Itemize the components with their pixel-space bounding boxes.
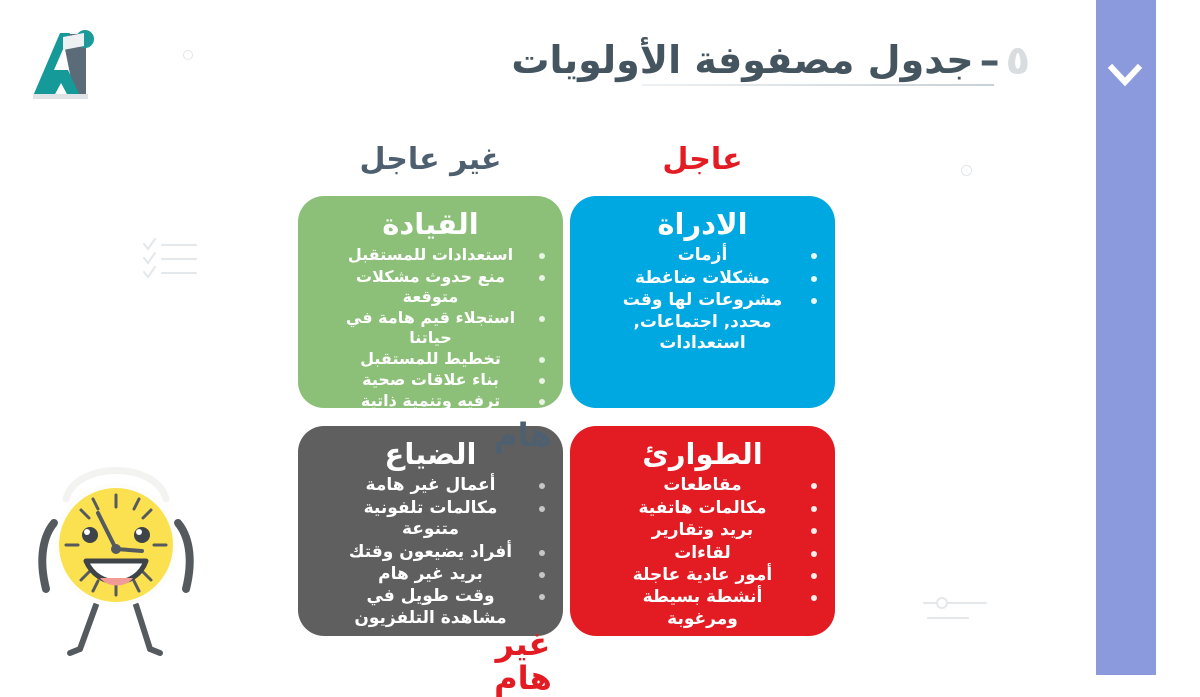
quadrant-title: الضياع [385, 438, 477, 471]
list-item: بريد وتقارير [584, 520, 821, 541]
list-item: استعدادات للمستقبل [312, 245, 549, 265]
list-item: مكالمات هاتفية [584, 498, 821, 519]
quadrant-management[interactable]: الادراة أزمات مشكلات ضاغطة مشروعات لها و… [570, 196, 835, 408]
row-label-line2: هام [475, 662, 571, 696]
row-label-line1: غير [475, 628, 571, 662]
title-number: ٥ [1006, 41, 1030, 81]
quadrant-title: الطوارئ [642, 438, 762, 471]
slide-canvas: ٥ – جدول مصفوفة الأولويات عاجل غير عاجل … [0, 0, 1200, 675]
checklist-icon [138, 236, 202, 282]
page-title: ٥ – جدول مصفوفة الأولويات [511, 40, 1030, 82]
list-item: منع حدوث مشكلات متوقعة [312, 267, 549, 307]
quadrant-title: القيادة [382, 208, 478, 241]
list-item: أنشطة بسيطة ومرغوبة [584, 587, 821, 630]
list-item: ترفيه وتنمية ذاتية [312, 391, 549, 408]
row-label-important: هام [475, 419, 571, 453]
quadrant-item-list: استعدادات للمستقبل منع حدوث مشكلات متوقع… [312, 245, 549, 408]
list-item: بريد غير هام [312, 564, 549, 585]
quadrant-emergency[interactable]: الطوارئ مقاطعات مكالمات هاتفية بريد وتقا… [570, 426, 835, 636]
list-item: بناء علاقات صحية [312, 370, 549, 390]
list-item: مشكلات ضاغطة [584, 268, 821, 289]
row-label-not-important: غير هام [475, 628, 571, 695]
quadrant-title: الادراة [657, 208, 747, 241]
list-item: استجلاء قيم هامة في حياتنا [312, 308, 549, 348]
list-item: مشروعات لها وقت محدد, اجتماعات, استعدادا… [584, 290, 821, 354]
list-item: أفراد يضيعون وقتك [312, 542, 549, 563]
title-underline [642, 84, 994, 86]
list-item: أزمات [584, 245, 821, 266]
list-item: مقاطعات [584, 475, 821, 496]
slider-settings-icon [920, 592, 992, 626]
right-accent-bar [1096, 0, 1156, 675]
quadrant-waste[interactable]: الضياع أعمال غير هامة مكالمات تلفونية مت… [298, 426, 563, 636]
list-item: أعمال غير هامة [312, 475, 549, 496]
decorative-dot [961, 165, 972, 176]
list-item: أمور عادية عاجلة [584, 565, 821, 586]
quadrant-item-list: أزمات مشكلات ضاغطة مشروعات لها وقت محدد,… [584, 245, 821, 355]
company-logo [24, 24, 110, 108]
title-dash: – [980, 41, 1000, 81]
list-item: تخطيط للمستقبل [312, 349, 549, 369]
list-item: وقت طويل في مشاهدة التلفزيون [312, 586, 549, 629]
list-item: لقاءات [584, 543, 821, 564]
quadrant-leadership[interactable]: القيادة استعدادات للمستقبل منع حدوث مشكل… [298, 196, 563, 408]
list-item: مكالمات تلفونية متنوعة [312, 498, 549, 541]
decorative-dot [183, 50, 193, 60]
column-header-not-urgent: غير عاجل [298, 136, 563, 184]
title-text: جدول مصفوفة الأولويات [511, 40, 973, 82]
column-header-urgent: عاجل [570, 136, 835, 184]
priority-matrix: عاجل غير عاجل الادراة أزمات مشكلات ضاغطة… [290, 136, 835, 648]
chevron-down-icon[interactable] [1106, 56, 1144, 94]
smiling-clock-mascot [18, 437, 214, 667]
quadrant-item-list: أعمال غير هامة مكالمات تلفونية متنوعة أف… [312, 475, 549, 630]
quadrant-item-list: مقاطعات مكالمات هاتفية بريد وتقارير لقاء… [584, 475, 821, 631]
